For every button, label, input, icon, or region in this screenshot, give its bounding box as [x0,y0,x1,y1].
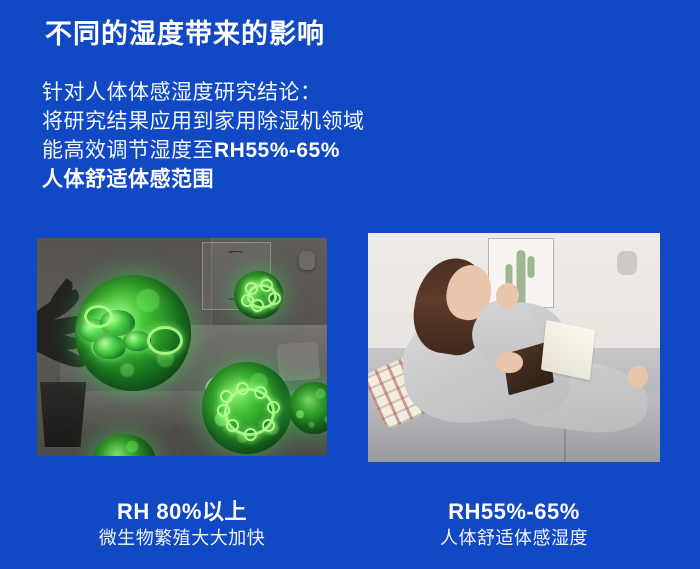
photo-high-humidity-microbes [37,238,327,456]
body-line-3-prefix: 能高效调节湿度至 [42,139,214,162]
book-right-page [541,319,595,380]
body-line-2: 将研究结果应用到家用除湿机领域 [42,107,365,136]
microbe-sphere-edge [92,434,156,456]
wall-thermostat-icon [299,251,315,270]
page-title: 不同的湿度带来的影响 [45,18,325,52]
caption-left-title: RH 80%以上 [37,498,327,525]
photo-comfort-humidity-woman [368,233,660,462]
body-copy: 针对人体体感湿度研究结论： 将研究结果应用到家用除湿机领域 能高效调节湿度至RH… [42,78,365,194]
humidity-infographic-poster: 不同的湿度带来的影响 针对人体体感湿度研究结论： 将研究结果应用到家用除湿机领域… [0,0,700,569]
wall-thermostat-icon [617,251,637,275]
body-line-1: 针对人体体感湿度研究结论： [42,78,365,107]
microbe-sphere-right-edge [289,382,327,434]
microbe-sphere-small-top [234,271,283,319]
woman-hand-lower [496,352,522,373]
body-line-4: 人体舒适体感范围 [42,165,365,194]
microbe-sphere-large [75,275,191,391]
caption-right-title: RH55%-65% [368,498,660,525]
dark-room-scene [37,238,327,456]
caption-right: RH55%-65% 人体舒适体感湿度 [368,498,660,551]
body-line-3: 能高效调节湿度至RH55%-65% [42,136,365,165]
light-room-scene [368,233,660,462]
body-line-3-prefix-text: 能高效调节湿度至 [42,139,214,162]
caption-right-subtitle: 人体舒适体感湿度 [368,525,660,551]
microbe-sphere-bottom [202,362,292,454]
caption-left-subtitle: 微生物繁殖大大加快 [37,525,327,551]
body-line-3-highlight: RH55%-65% [214,139,340,162]
caption-left: RH 80%以上 微生物繁殖大大加快 [37,498,327,551]
